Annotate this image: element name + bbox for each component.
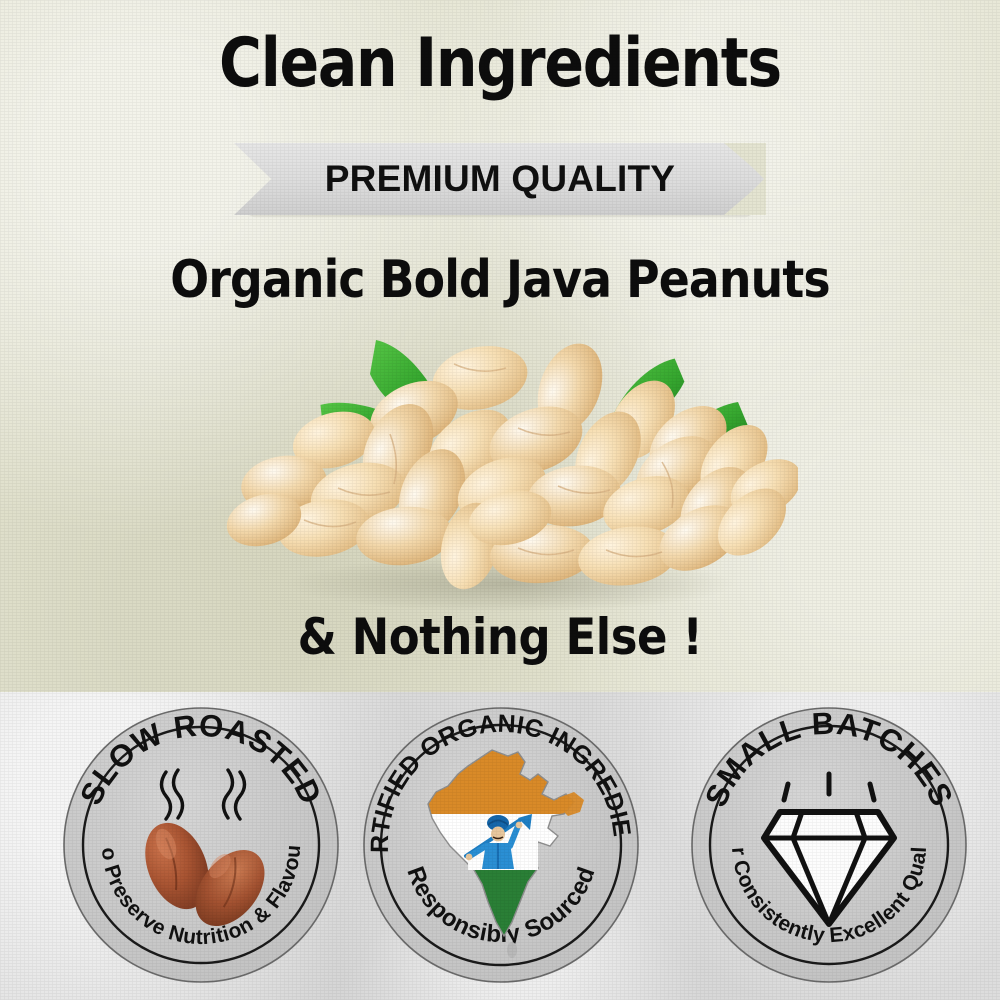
- badge-slow-roasted[interactable]: SLOW ROASTED To Preserve Nutrition & Fla…: [62, 706, 340, 984]
- page-title: Clean Ingredients: [70, 24, 930, 103]
- product-name: Organic Bold Java Peanuts: [60, 250, 940, 310]
- badge-small-batches[interactable]: SMALL BATCHES For Consistently Excellent…: [690, 706, 968, 984]
- ribbon-label: PREMIUM QUALITY: [234, 143, 766, 215]
- premium-quality-ribbon: PREMIUM QUALITY: [234, 143, 766, 215]
- product-infographic: Clean Ingredients PREMIUM QUALITY Organi…: [0, 0, 1000, 1000]
- peanut-kernel-group: [221, 335, 798, 596]
- badge-certified-organic-ingredients[interactable]: CERTIFIED ORGANIC INGREDIENTS Responsibl…: [362, 706, 640, 984]
- tagline: & Nothing Else !: [50, 608, 950, 666]
- farmer-icon: [466, 814, 538, 870]
- hero-peanut-pile: [218, 322, 798, 612]
